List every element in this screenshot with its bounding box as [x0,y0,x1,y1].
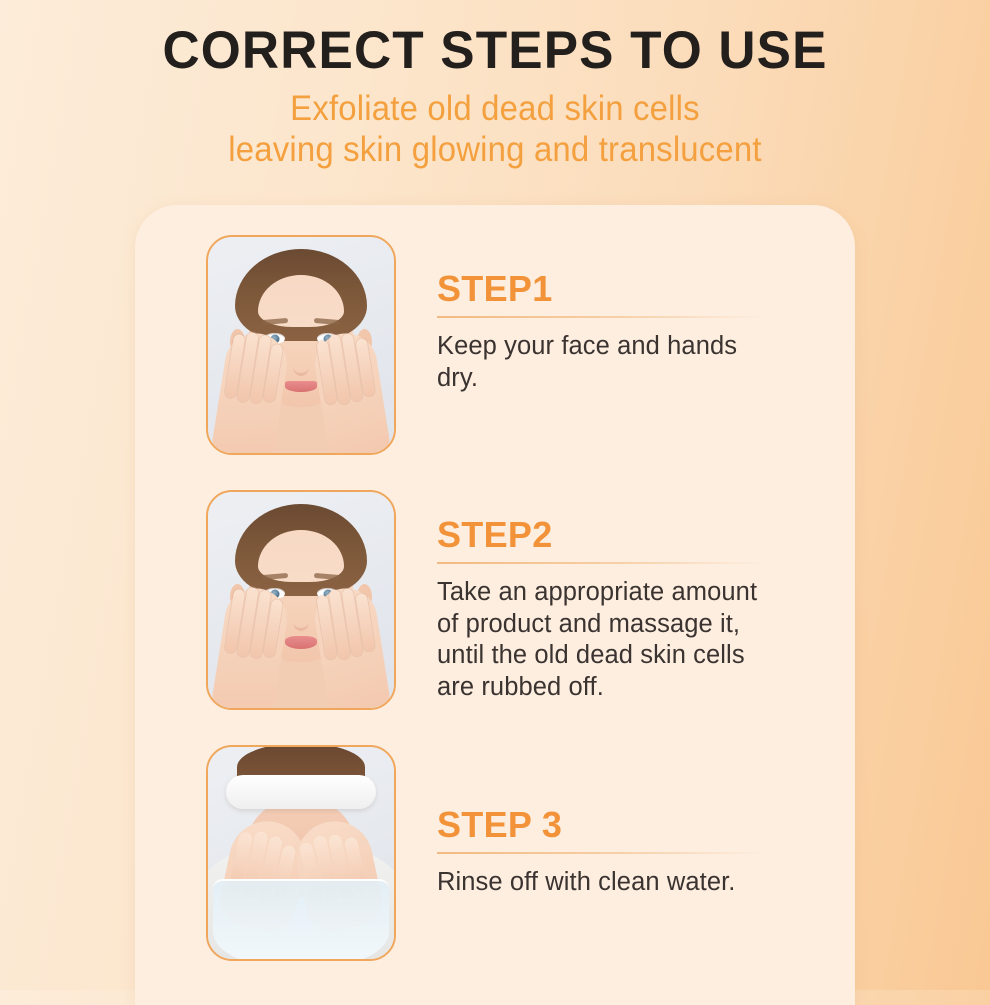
step-3-divider [437,852,764,854]
steps-card: STEP1 Keep your face and hands dry. [135,205,855,1005]
step-2-desc-line-1: Take an appropriate amount [437,577,829,609]
step-3-photo-frame [206,745,396,961]
step-1-photo-frame [206,235,396,455]
step-2-desc-line-4: are rubbed off. [437,672,829,704]
step-1-desc-line-2: dry. [437,363,829,395]
step-3-title: STEP 3 [437,807,829,852]
step-2-description: Take an appropriate amount of product an… [437,577,829,703]
step-1-text: STEP1 Keep your face and hands dry. [396,235,855,394]
woman-applying-product-to-face-smiling-image [208,237,394,453]
step-item-2: STEP2 Take an appropriate amount of prod… [135,490,855,710]
header: CORRECT STEPS TO USE Exfoliate old dead … [0,0,990,171]
step-2-desc-line-3: until the old dead skin cells [437,640,829,672]
step-2-text: STEP2 Take an appropriate amount of prod… [396,490,855,703]
step-item-3: STEP 3 Rinse off with clean water. [135,745,855,961]
step-2-divider [437,562,764,564]
subtitle-line-2: leaving skin glowing and translucent [30,130,961,171]
step-2-desc-line-2: of product and massage it, [437,609,829,641]
step-item-1: STEP1 Keep your face and hands dry. [135,235,855,455]
step-3-desc-line-1: Rinse off with clean water. [437,867,829,899]
step-1-desc-line-1: Keep your face and hands [437,331,829,363]
woman-massaging-cheeks-with-fingers-image [208,492,394,708]
step-1-divider [437,316,764,318]
page-title: CORRECT STEPS TO USE [15,24,975,77]
step-1-title: STEP1 [437,271,829,316]
step-3-text: STEP 3 Rinse off with clean water. [396,745,855,899]
step-1-description: Keep your face and hands dry. [437,331,829,394]
page-subtitle: Exfoliate old dead skin cells leaving sk… [30,77,961,171]
step-2-title: STEP2 [437,517,829,562]
woman-rinsing-face-with-water-over-basin-image [208,747,394,959]
subtitle-line-1: Exfoliate old dead skin cells [30,89,961,130]
step-3-description: Rinse off with clean water. [437,867,829,899]
step-2-photo-frame [206,490,396,710]
